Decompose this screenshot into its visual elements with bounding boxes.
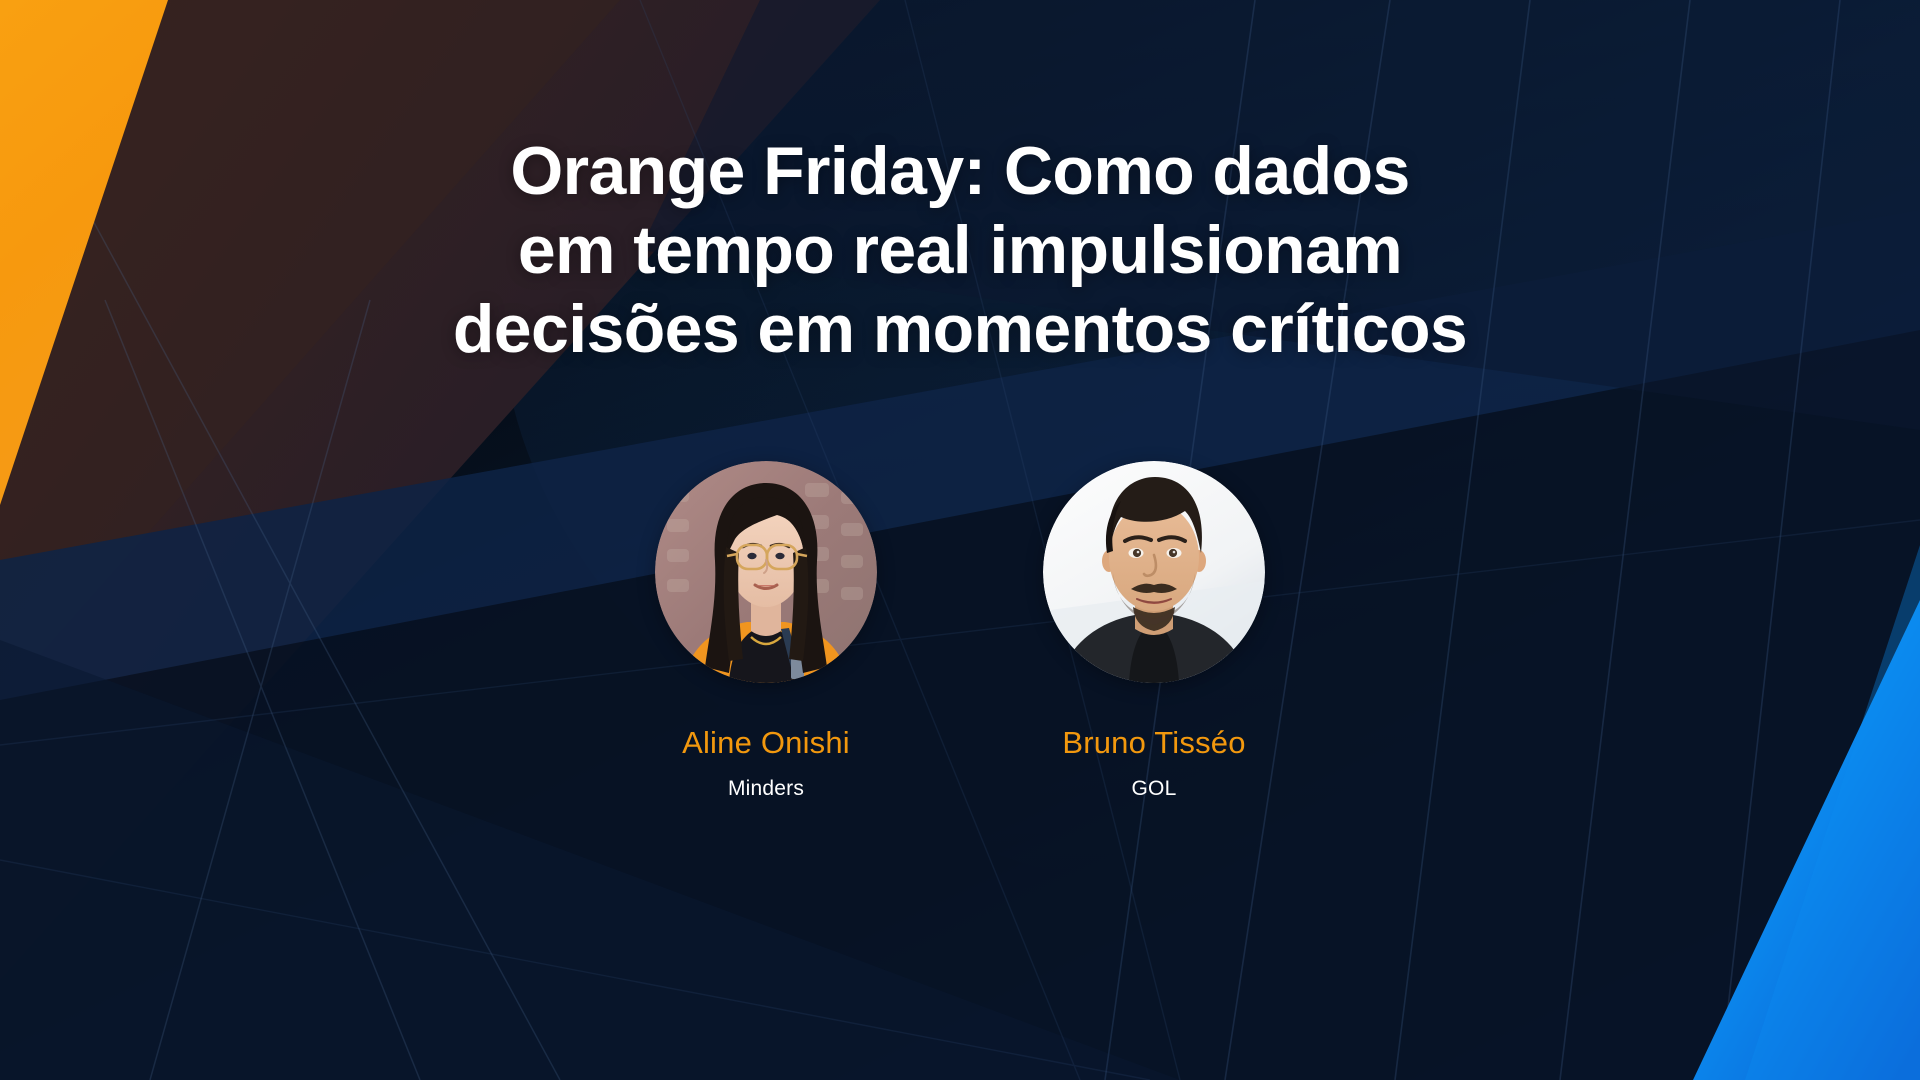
speaker-org: GOL: [1132, 777, 1177, 801]
presentation-slide: Orange Friday: Como dados em tempo real …: [0, 0, 1920, 1080]
photo-man-mustache-icon: [1043, 461, 1265, 683]
page-title: Orange Friday: Como dados em tempo real …: [260, 132, 1660, 369]
speaker-name: Aline Onishi: [682, 725, 850, 761]
speaker-card: Bruno Tisséo GOL: [1024, 461, 1284, 801]
avatar: [655, 461, 877, 683]
speaker-name: Bruno Tisséo: [1062, 725, 1245, 761]
slide-content: Orange Friday: Como dados em tempo real …: [0, 0, 1920, 1080]
speaker-card: Aline Onishi Minders: [636, 461, 896, 801]
speaker-org: Minders: [728, 777, 804, 801]
photo-woman-glasses-icon: [655, 461, 877, 683]
avatar: [1043, 461, 1265, 683]
speaker-list: Aline Onishi Minders: [636, 461, 1284, 801]
